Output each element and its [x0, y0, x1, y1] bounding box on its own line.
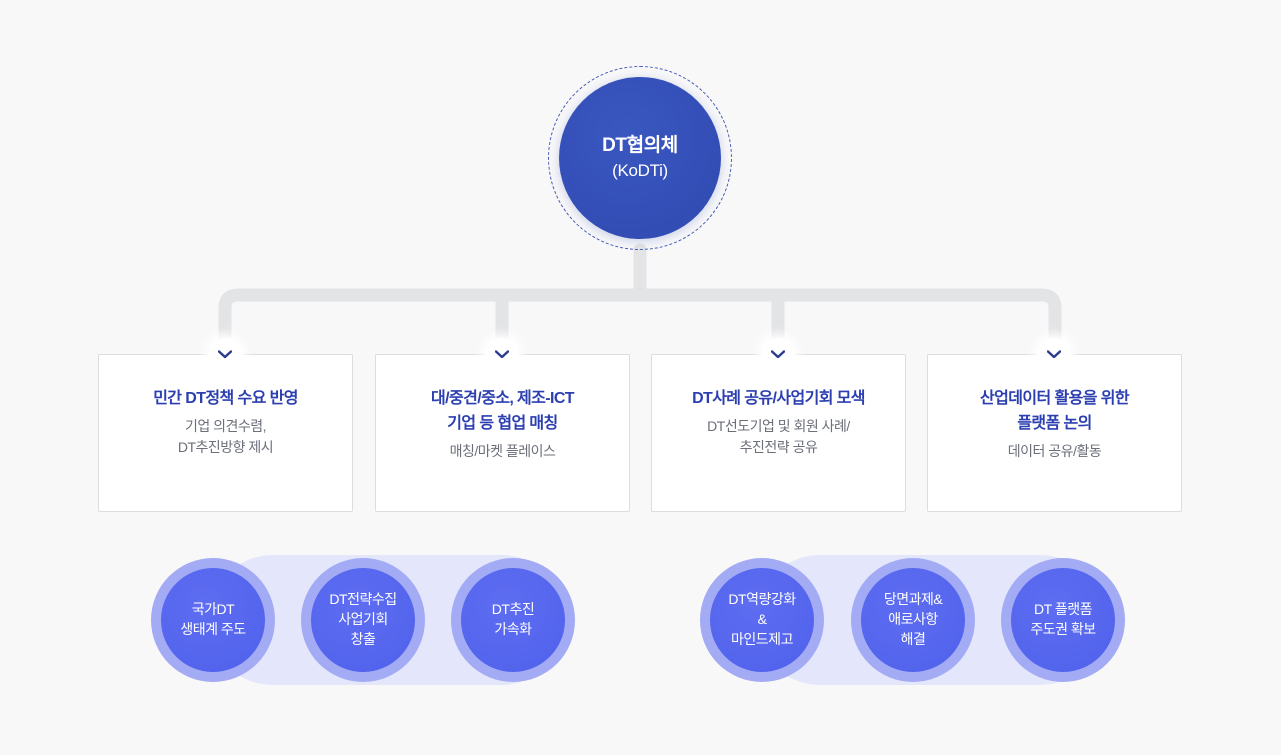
role-box-2-title-line-1: 대/중견/중소, 제조-ICT: [390, 387, 615, 412]
outcome-bubble-2[interactable]: DT전략수집 사업기회 창출: [301, 558, 425, 682]
hub-title: DT협의체: [602, 134, 678, 158]
outcome-bubble-3-line-1: DT추진: [492, 600, 534, 620]
outcome-bubble-4-line-2: &: [728, 610, 795, 630]
role-box-2[interactable]: 대/중견/중소, 제조-ICT 기업 등 협업 매칭 매칭/마켓 플레이스: [375, 354, 630, 512]
role-box-2-desc: 매칭/마켓 플레이스: [390, 441, 615, 463]
role-box-1-desc-line-1: 기업 의견수렴,: [113, 416, 338, 438]
outcome-bubble-3-inner: DT추진 가속화: [461, 568, 565, 672]
outcome-bubble-1[interactable]: 국가DT 생태계 주도: [151, 558, 275, 682]
role-box-3-desc-line-1: DT선도기업 및 회원 사례/: [666, 416, 891, 438]
role-box-2-desc-line-1: 매칭/마켓 플레이스: [390, 441, 615, 463]
role-box-1-desc: 기업 의견수렴, DT추진방향 제시: [113, 416, 338, 459]
chevron-down-icon-1: [209, 338, 241, 370]
outcome-bubble-5-line-2: 애로사항: [884, 610, 942, 630]
role-box-1-desc-line-2: DT추진방향 제시: [113, 437, 338, 459]
role-box-2-title: 대/중견/중소, 제조-ICT 기업 등 협업 매칭: [390, 387, 615, 437]
outcome-bubble-6[interactable]: DT 플랫폼 주도권 확보: [1001, 558, 1125, 682]
outcome-bubble-5-line-3: 해결: [884, 630, 942, 650]
outcome-bubble-1-line-1: 국가DT: [180, 600, 245, 620]
outcome-bubble-3[interactable]: DT추진 가속화: [451, 558, 575, 682]
outcome-bubble-6-line-1: DT 플랫폼: [1030, 600, 1095, 620]
chevron-down-icon-3: [762, 338, 794, 370]
role-box-4-desc: 데이터 공유/활동: [942, 441, 1167, 463]
role-box-4-title: 산업데이터 활용을 위한 플랫폼 논의: [942, 387, 1167, 437]
outcome-bubble-2-line-3: 창출: [329, 630, 396, 650]
outcome-bubble-5[interactable]: 당면과제& 애로사항 해결: [851, 558, 975, 682]
role-box-3-title: DT사례 공유/사업기회 모색: [666, 387, 891, 412]
outcome-bubble-4-line-1: DT역량강화: [728, 590, 795, 610]
hub-circle: DT협의체 (KoDTi): [559, 77, 721, 239]
hub-subtitle: (KoDTi): [612, 160, 668, 182]
outcome-bubble-2-line-2: 사업기회: [329, 610, 396, 630]
hub-node: DT협의체 (KoDTi): [548, 66, 732, 250]
outcome-bubble-4[interactable]: DT역량강화 & 마인드제고: [700, 558, 824, 682]
outcome-bubble-6-inner: DT 플랫폼 주도권 확보: [1011, 568, 1115, 672]
role-box-3-desc: DT선도기업 및 회원 사례/ 추진전략 공유: [666, 416, 891, 459]
outcome-bubble-4-inner: DT역량강화 & 마인드제고: [710, 568, 814, 672]
outcome-bubble-2-inner: DT전략수집 사업기회 창출: [311, 568, 415, 672]
outcome-bubble-2-line-1: DT전략수집: [329, 590, 396, 610]
outcome-bubble-5-inner: 당면과제& 애로사항 해결: [861, 568, 965, 672]
org-diagram: DT협의체 (KoDTi) 민간 DT정책 수요 반영 기업 의견수렴, DT추…: [0, 0, 1281, 755]
chevron-down-icon-2: [486, 338, 518, 370]
role-box-2-title-line-2: 기업 등 협업 매칭: [390, 412, 615, 437]
outcome-bubble-1-line-2: 생태계 주도: [180, 620, 245, 640]
outcome-bubble-5-line-1: 당면과제&: [884, 590, 942, 610]
role-box-4-title-line-1: 산업데이터 활용을 위한: [942, 387, 1167, 412]
outcome-bubble-3-line-2: 가속화: [492, 620, 534, 640]
role-box-1-title: 민간 DT정책 수요 반영: [113, 387, 338, 412]
role-box-4[interactable]: 산업데이터 활용을 위한 플랫폼 논의 데이터 공유/활동: [927, 354, 1182, 512]
role-box-3[interactable]: DT사례 공유/사업기회 모색 DT선도기업 및 회원 사례/ 추진전략 공유: [651, 354, 906, 512]
outcome-bubble-1-inner: 국가DT 생태계 주도: [161, 568, 265, 672]
role-box-4-desc-line-1: 데이터 공유/활동: [942, 441, 1167, 463]
outcome-bubble-4-line-3: 마인드제고: [728, 630, 795, 650]
chevron-down-icon-4: [1038, 338, 1070, 370]
outcome-bubble-6-line-2: 주도권 확보: [1030, 620, 1095, 640]
role-box-1[interactable]: 민간 DT정책 수요 반영 기업 의견수렴, DT추진방향 제시: [98, 354, 353, 512]
role-box-3-desc-line-2: 추진전략 공유: [666, 437, 891, 459]
role-box-4-title-line-2: 플랫폼 논의: [942, 412, 1167, 437]
